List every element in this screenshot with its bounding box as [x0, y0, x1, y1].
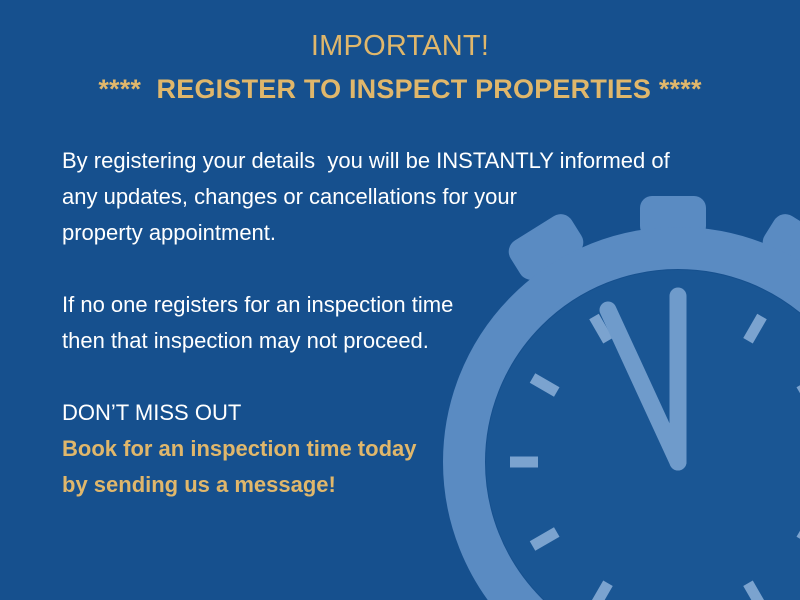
paragraph-call-to-action: DON’T MISS OUT Book for an inspection ti…: [62, 395, 670, 503]
cta-book-inspection: Book for an inspection time today: [62, 431, 670, 467]
body-copy: By registering your details you will be …: [62, 143, 670, 503]
paragraph-benefits: By registering your details you will be …: [62, 143, 670, 251]
paragraph-benefits-line-2: any updates, changes or cancellations fo…: [62, 179, 670, 215]
paragraph-benefits-line-3: property appointment.: [62, 215, 670, 251]
cta-dont-miss-out: DON’T MISS OUT: [62, 395, 670, 431]
heading-important: IMPORTANT!: [0, 26, 800, 66]
paragraph-benefits-line-1: By registering your details you will be …: [62, 143, 670, 179]
promo-slide: IMPORTANT! **** REGISTER TO INSPECT PROP…: [0, 0, 800, 600]
paragraph-warning: If no one registers for an inspection ti…: [62, 287, 670, 359]
cta-send-message: by sending us a message!: [62, 467, 670, 503]
heading-register: **** REGISTER TO INSPECT PROPERTIES ****: [0, 69, 800, 109]
clock-lug-right: [758, 209, 800, 284]
paragraph-warning-line-2: then that inspection may not proceed.: [62, 323, 670, 359]
heading-block: IMPORTANT! **** REGISTER TO INSPECT PROP…: [0, 26, 800, 109]
paragraph-warning-line-1: If no one registers for an inspection ti…: [62, 287, 670, 323]
